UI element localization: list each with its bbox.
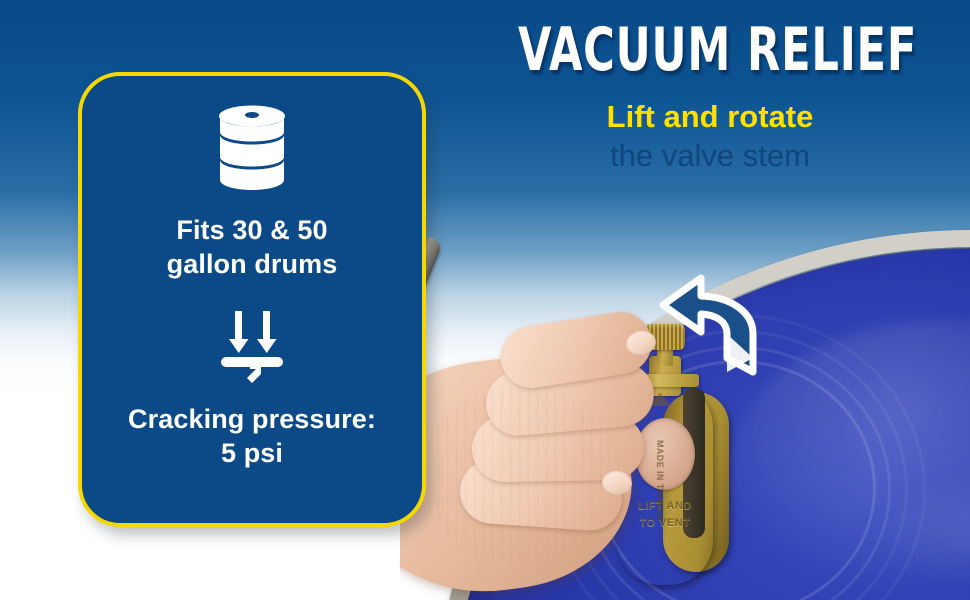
pressure-arrows-icon (211, 309, 293, 390)
drum-icon (211, 104, 293, 201)
feature-2-text: Cracking pressure: 5 psi (128, 402, 376, 470)
feature-1-text: Fits 30 & 50 gallon drums (167, 213, 338, 281)
feature-2-line-1: Cracking pressure: (128, 402, 376, 436)
page-title: VACUUM RELIEF (518, 18, 902, 82)
headline-block: VACUUM RELIEF Lift and rotate the valve … (470, 18, 950, 176)
feature-card: Fits 30 & 50 gallon drums Cracking press… (78, 72, 426, 527)
feature-1-line-1: Fits 30 & 50 (167, 213, 338, 247)
rotate-arrow-icon (655, 272, 770, 382)
feature-1-line-2: gallon drums (167, 247, 338, 281)
feature-2-line-2: 5 psi (128, 436, 376, 470)
subtitle-highlight: Lift and rotate (470, 98, 950, 136)
promo-banner: LIFT AND TO VENT MADE IN TAIWAN (0, 0, 970, 600)
subtitle-rest: the valve stem (470, 136, 950, 176)
hand (400, 275, 690, 600)
product-photo: LIFT AND TO VENT MADE IN TAIWAN (400, 170, 970, 600)
